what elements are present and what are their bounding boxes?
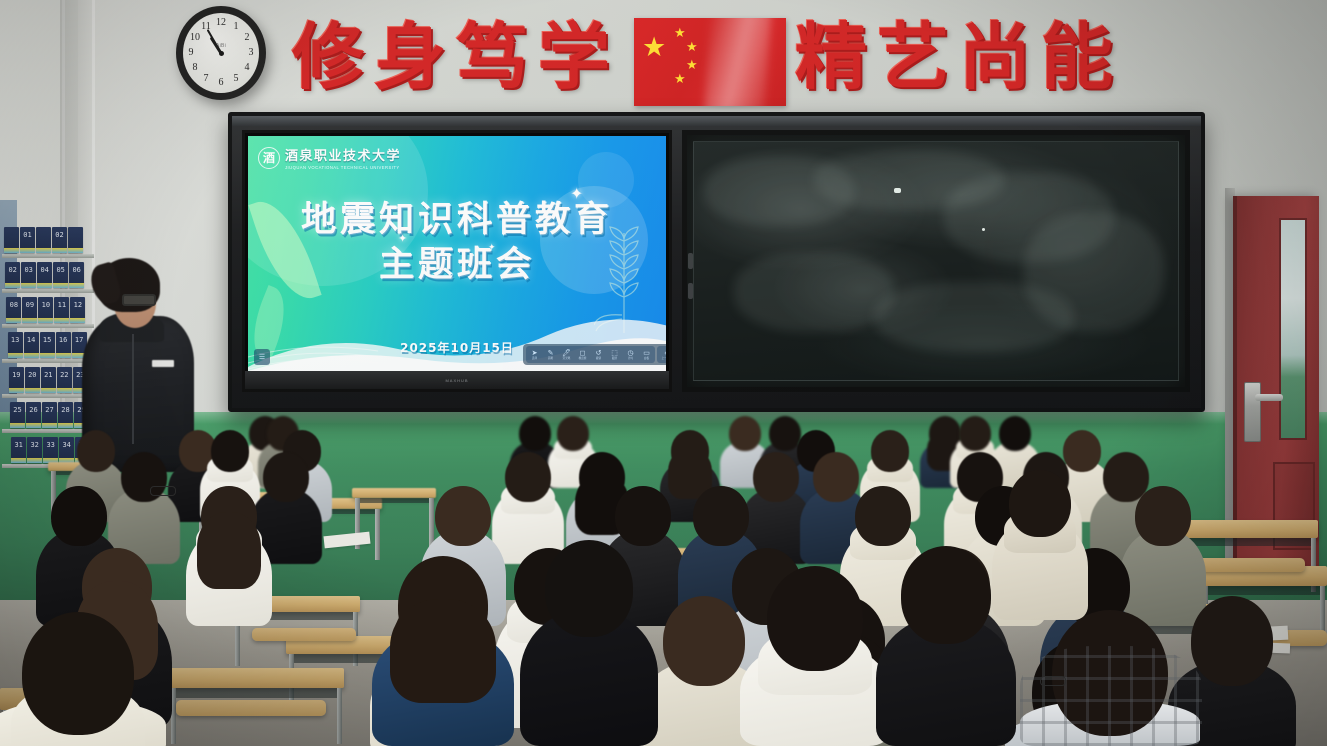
pocket-band (52, 248, 67, 253)
pocket-band (42, 423, 57, 428)
pocket-band (8, 353, 23, 358)
phone-pocket[interactable]: 28 (58, 402, 73, 428)
toolbar-group-tools[interactable]: ➤选择 ✎画笔 🖊荧光笔 ◻橡皮擦 ↺撤销 ⬚截屏 ◷计时 ▭白板 (526, 346, 655, 363)
student (186, 486, 272, 626)
phone-pocket[interactable]: 31 (11, 437, 26, 463)
display-brand: MAXHUB (445, 378, 468, 383)
university-logo: 酒 酒泉职业技术大学 JIUQUAN VOCATIONAL TECHNICAL … (258, 145, 401, 170)
student-chair (1195, 558, 1305, 572)
student-head (1135, 486, 1190, 546)
pocket-band (54, 318, 69, 323)
highlighter-icon[interactable]: 🖊荧光笔 (559, 347, 574, 362)
clock-number: 8 (188, 62, 202, 73)
phone-pocket-number: 26 (26, 406, 41, 414)
pocket-band (11, 458, 26, 463)
clock-number: 7 (199, 73, 213, 84)
student-head (693, 486, 748, 546)
student-head (729, 416, 761, 451)
clock-minute-hand (207, 29, 222, 53)
phone-pocket[interactable]: 13 (8, 332, 23, 358)
phone-pocket-number: 33 (43, 441, 58, 449)
flag-star-small: ★ (686, 40, 698, 53)
clock-number: 12 (214, 17, 228, 28)
student (520, 540, 658, 746)
phone-pocket-number: 21 (41, 371, 56, 379)
clock-number: 4 (240, 62, 254, 73)
pocket-band (24, 353, 39, 358)
phone-pocket-number: 31 (11, 441, 26, 449)
student (876, 546, 1016, 746)
phone-pocket[interactable]: 32 (27, 437, 42, 463)
screenshot-icon[interactable]: ⬚截屏 (607, 347, 622, 362)
phone-pocket-number: 14 (24, 336, 39, 344)
undo-icon[interactable]: ↺撤销 (591, 347, 606, 362)
phone-pocket-number: 02 (52, 231, 67, 239)
student (372, 556, 514, 746)
student-head (22, 612, 135, 735)
clock-number: 1 (229, 21, 243, 32)
board-hinge (688, 253, 693, 269)
smart-board-frame: 酒 酒泉职业技术大学 JIUQUAN VOCATIONAL TECHNICAL … (228, 112, 1205, 412)
phone-pocket[interactable]: 26 (26, 402, 41, 428)
student-head (211, 430, 249, 472)
student (740, 566, 890, 746)
pocket-band (68, 248, 83, 253)
eyeglasses-icon (122, 294, 156, 306)
cursor-icon[interactable]: ➤选择 (527, 347, 542, 362)
pocket-band (22, 318, 37, 323)
phone-pocket-number: 09 (22, 301, 37, 309)
flag-glare (703, 18, 771, 106)
phone-pocket[interactable]: 27 (42, 402, 57, 428)
student-desk (168, 668, 344, 688)
student-head (519, 416, 551, 451)
door-handle-icon[interactable] (1255, 394, 1283, 401)
phone-pocket[interactable]: 15 (40, 332, 55, 358)
pocket-band (27, 458, 42, 463)
student-head (999, 416, 1031, 451)
phone-pocket[interactable]: 04 (37, 262, 52, 288)
eyeglasses-icon (150, 486, 176, 496)
organizer-row: 1920212223 (9, 367, 88, 393)
phone-pocket-number: 28 (58, 406, 73, 414)
pocket-band (10, 423, 25, 428)
student-head (663, 596, 745, 686)
student-head (901, 546, 991, 644)
organizer-row: 0203040506 (5, 262, 84, 288)
chalk-piece (982, 228, 985, 231)
clock-face: AiBi 12 1 2 3 4 5 6 7 8 9 10 11 (183, 13, 259, 93)
phone-pocket-number: 19 (9, 371, 24, 379)
student-head (959, 416, 991, 451)
phone-pocket[interactable]: 16 (56, 332, 71, 358)
university-seal-icon: 酒 (258, 147, 280, 169)
wall-clock: AiBi 12 1 2 3 4 5 6 7 8 9 10 11 (176, 6, 266, 100)
organizer-row: 0809101112 (6, 297, 85, 323)
clock-hub (219, 51, 224, 56)
phone-pocket-number: 25 (10, 406, 25, 414)
phone-pocket-number: 27 (42, 406, 57, 414)
phone-pocket-number: 15 (40, 336, 55, 344)
phone-pocket[interactable]: 21 (41, 367, 56, 393)
timer-icon[interactable]: ◷计时 (623, 347, 638, 362)
university-name-cn: 酒泉职业技术大学 (285, 145, 401, 164)
chalkboard-surface (693, 141, 1179, 381)
chalkboard (682, 130, 1190, 392)
pocket-band (58, 423, 73, 428)
student-head (767, 566, 863, 671)
student-long-hair (390, 599, 495, 704)
sparkle-icon: ✦ (398, 232, 407, 245)
slide-title-block: 地震知识科普教育 主题班会 (248, 198, 666, 288)
student-head (51, 486, 106, 546)
desk-leg (375, 509, 380, 560)
wall-slogan-left: 修身笃学 (292, 14, 620, 100)
phone-pocket[interactable]: 20 (25, 367, 40, 393)
pocket-band (37, 283, 52, 288)
interactive-flat-panel[interactable]: 酒 酒泉职业技术大学 JIUQUAN VOCATIONAL TECHNICAL … (242, 130, 672, 392)
presenter-zipper (132, 334, 134, 444)
board-hinge (688, 283, 693, 299)
presentation-toolbar[interactable]: ➤选择 ✎画笔 🖊荧光笔 ◻橡皮擦 ↺撤销 ⬚截屏 ◷计时 ▭白板 ‹上一页 1… (523, 344, 666, 365)
slide-title-line2: 主题班会 (248, 243, 666, 288)
phone-pocket-number: 11 (54, 301, 69, 309)
slide-title-line1: 地震知识科普教育 (248, 198, 666, 243)
phone-pocket-number: 02 (5, 266, 20, 274)
pocket-band (21, 283, 36, 288)
pocket-band (26, 423, 41, 428)
phone-pocket-number: 01 (20, 231, 35, 239)
pocket-band (53, 283, 68, 288)
desk-shelf (172, 688, 340, 698)
pocket-band (57, 388, 72, 393)
phone-pocket[interactable]: 02 (52, 227, 67, 253)
phone-pocket[interactable]: 33 (43, 437, 58, 463)
chalk-piece (894, 188, 901, 193)
phone-pocket[interactable] (68, 227, 83, 253)
phone-pocket[interactable]: 19 (9, 367, 24, 393)
clock-number: 9 (184, 47, 198, 58)
student-head (1191, 596, 1273, 686)
door-lock-plate[interactable] (1244, 382, 1261, 442)
pocket-band (56, 353, 71, 358)
student-head (1009, 470, 1070, 537)
sparkle-icon: ✦ (570, 184, 583, 204)
chinese-flag: ★ ★ ★ ★ ★ (634, 18, 786, 106)
phone-pocket[interactable]: 03 (21, 262, 36, 288)
pocket-band (20, 248, 35, 253)
student (0, 612, 166, 746)
sparkle-icon: ✦ (488, 242, 496, 253)
clock-number: 2 (240, 32, 254, 43)
desk-leg (337, 688, 342, 744)
student-chair (176, 700, 326, 716)
phone-pocket-number: 22 (57, 371, 72, 379)
whiteboard-icon[interactable]: ▭白板 (639, 347, 654, 362)
door-glass-window (1279, 218, 1307, 440)
clock-number: 5 (229, 73, 243, 84)
student-head (505, 452, 551, 502)
pocket-band (9, 388, 24, 393)
pen-icon[interactable]: ✎画笔 (543, 347, 558, 362)
phone-pocket-number: 32 (27, 441, 42, 449)
board-top-lip (232, 116, 1201, 126)
organizer-row: 0102 (4, 227, 83, 253)
phone-pocket-number: 10 (38, 301, 53, 309)
phone-pocket[interactable]: 08 (6, 297, 21, 323)
desk-shelf (1204, 586, 1323, 595)
flag-star-small: ★ (674, 72, 686, 85)
phone-pocket-number: 16 (56, 336, 71, 344)
phone-pocket[interactable] (36, 227, 51, 253)
phone-pocket-number: 20 (25, 371, 40, 379)
university-name-en: JIUQUAN VOCATIONAL TECHNICAL UNIVERSITY (285, 165, 401, 170)
organizer-row: 1314151617 (8, 332, 87, 358)
phone-pocket[interactable]: 01 (20, 227, 35, 253)
phone-pocket[interactable]: 11 (54, 297, 69, 323)
phone-pocket[interactable]: 10 (38, 297, 53, 323)
prev-icon[interactable]: ‹上一页 (658, 347, 666, 362)
phone-pocket[interactable]: 05 (53, 262, 68, 288)
clock-number: 6 (214, 77, 228, 88)
panel-chin: MAXHUB (245, 371, 669, 389)
student-head (615, 486, 670, 546)
pocket-band (5, 283, 20, 288)
flag-star-small: ★ (686, 58, 698, 71)
phone-pocket[interactable]: 09 (22, 297, 37, 323)
clock-number: 10 (188, 32, 202, 43)
eyeglasses-icon (1040, 676, 1066, 686)
pocket-band (41, 388, 56, 393)
phone-pocket-number: 08 (6, 301, 21, 309)
student-head (871, 430, 909, 472)
toolbar-group-navigation[interactable]: ‹上一页 1/8 ›下一页 (657, 346, 666, 363)
phone-pocket-number: 04 (37, 266, 52, 274)
wainscot-highlight (0, 412, 1327, 424)
pocket-band (38, 318, 53, 323)
pocket-band (6, 318, 21, 323)
classroom-scene: AiBi 12 1 2 3 4 5 6 7 8 9 10 11 修身笃学 ★ ★… (0, 0, 1327, 746)
presenter-jacket-logo (152, 360, 174, 367)
phone-pocket[interactable]: 25 (10, 402, 25, 428)
presentation-slide[interactable]: 酒 酒泉职业技术大学 JIUQUAN VOCATIONAL TECHNICAL … (248, 136, 666, 371)
flag-star-small: ★ (674, 26, 686, 39)
student-head (557, 416, 589, 451)
student-head (545, 540, 633, 637)
student-head (855, 486, 910, 546)
phone-pocket[interactable] (4, 227, 19, 253)
pocket-band (40, 353, 55, 358)
student-long-hair (197, 512, 261, 589)
pocket-band (36, 248, 51, 253)
flag-star-large: ★ (642, 34, 666, 61)
pocket-band (25, 388, 40, 393)
menu-icon[interactable]: ☰ (254, 349, 270, 365)
student-chair (252, 628, 356, 641)
student-head (435, 486, 490, 546)
plaid-shirt-pattern (1020, 646, 1202, 746)
phone-pocket-number: 03 (21, 266, 36, 274)
eraser-icon[interactable]: ◻橡皮擦 (575, 347, 590, 362)
phone-pocket[interactable]: 22 (57, 367, 72, 393)
phone-pocket[interactable]: 02 (5, 262, 20, 288)
phone-pocket-number: 05 (53, 266, 68, 274)
pocket-band (4, 248, 19, 253)
phone-pocket-number: 13 (8, 336, 23, 344)
clock-number: 3 (244, 47, 258, 58)
phone-pocket[interactable]: 14 (24, 332, 39, 358)
wall-slogan-right: 精艺尚能 (795, 14, 1123, 100)
